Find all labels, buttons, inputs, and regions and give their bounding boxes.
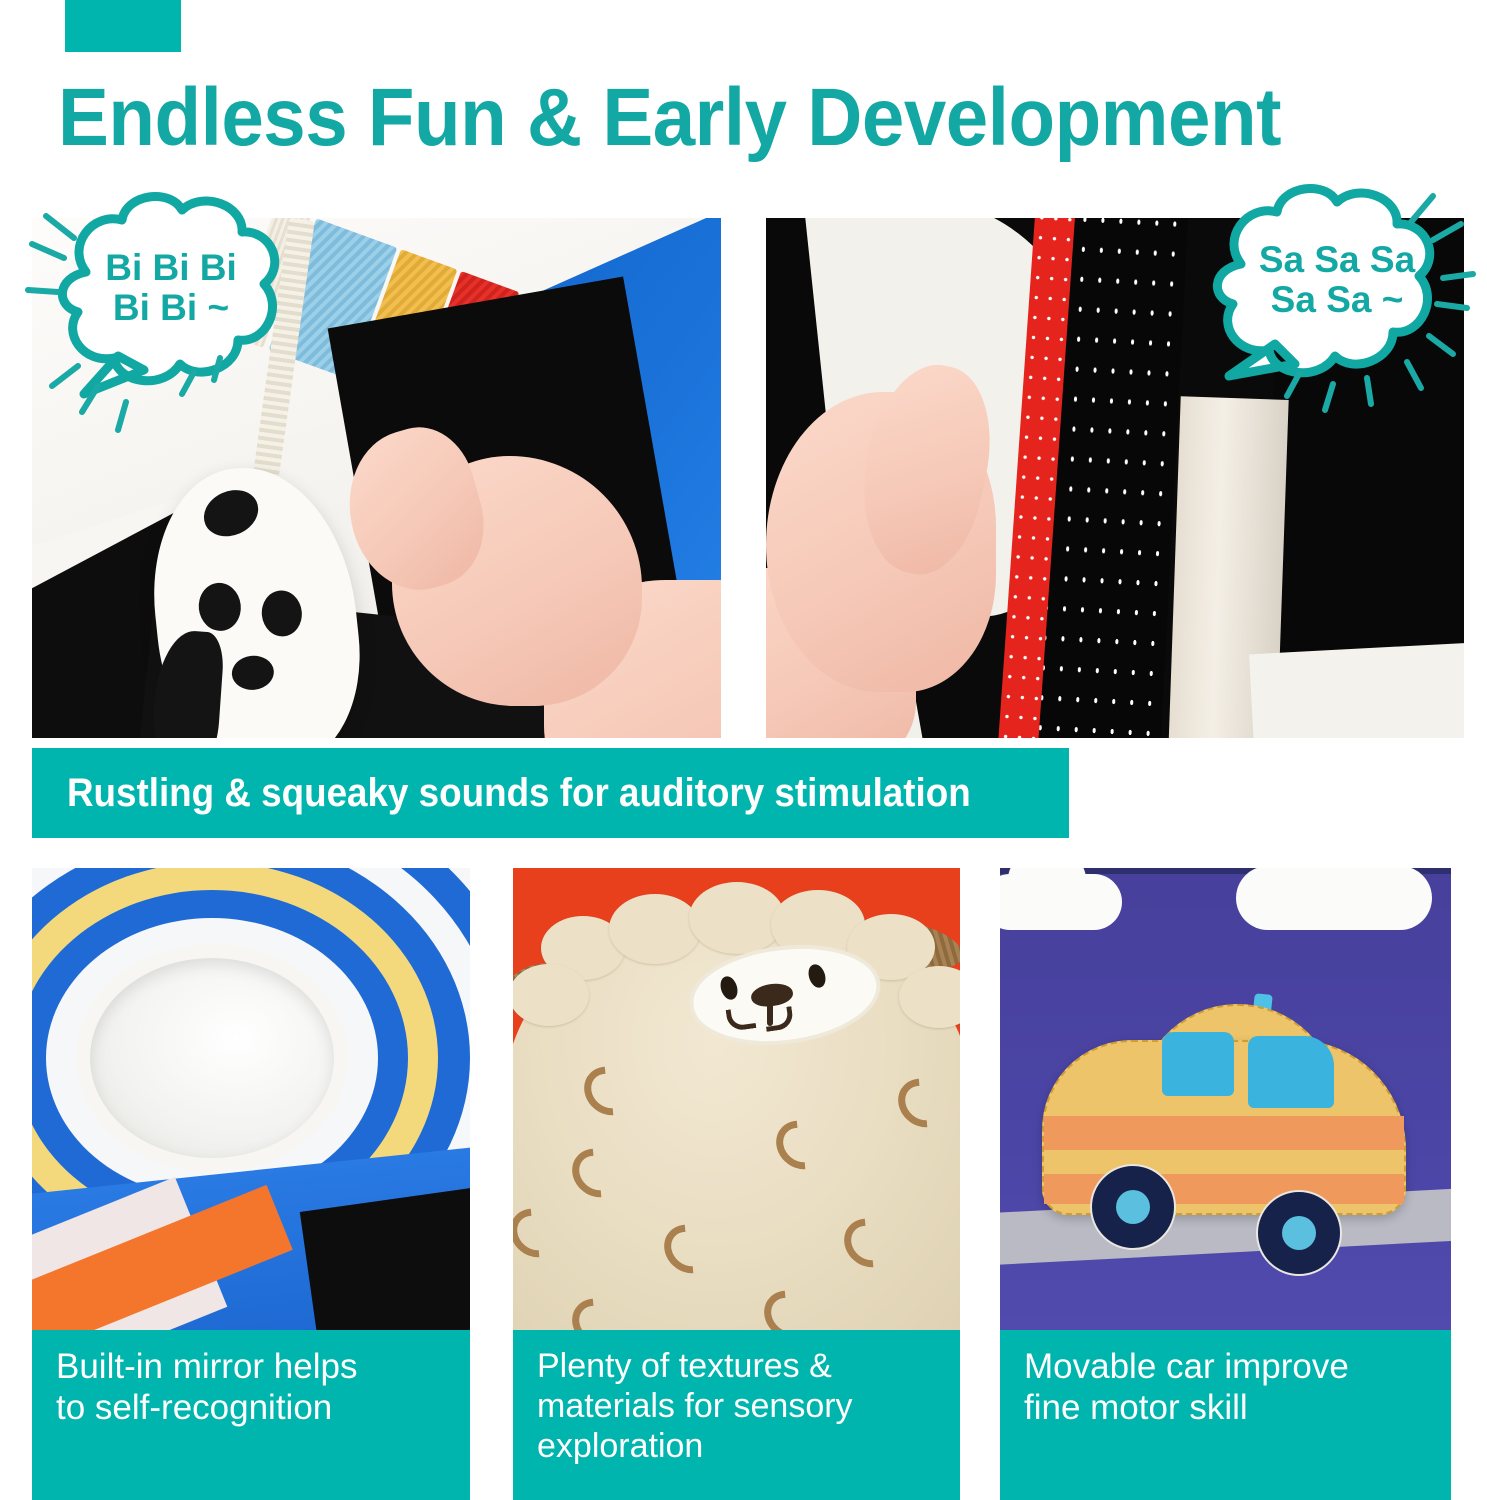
auditory-caption-text: Rustling & squeaky sounds for auditory s… — [32, 771, 971, 816]
speech-bubble-right: Sa Sa Sa Sa Sa ~ — [1185, 178, 1485, 448]
textures-caption: Plenty of textures & materials for senso… — [513, 1330, 960, 1500]
cloud-icon — [1000, 874, 1122, 930]
fabric-car-toy — [1042, 998, 1412, 1298]
page-title: Endless Fun & Early Development — [58, 72, 1360, 164]
lamb-fluff — [689, 882, 785, 954]
infographic-page: Endless Fun & Early Development — [0, 0, 1487, 1500]
car-photo — [1000, 868, 1451, 1330]
bubble-text: Bi Bi Bi Bi Bi ~ — [66, 248, 276, 328]
movable-car-caption: Movable car improve fine motor skill — [1000, 1330, 1451, 1500]
white-panel-bottom-right — [1249, 642, 1464, 738]
car-window-rear — [1248, 1036, 1334, 1108]
speech-bubble-left: Bi Bi Bi Bi Bi ~ — [22, 180, 322, 460]
cloud-icon — [1236, 868, 1432, 930]
movable-car-card: Movable car improve fine motor skill — [1000, 868, 1451, 1500]
mirror-caption: Built-in mirror helps to self-recognitio… — [32, 1330, 470, 1500]
car-stripe — [1044, 1116, 1404, 1150]
baby-mirror — [76, 944, 348, 1172]
bubble-text: Sa Sa Sa Sa Sa ~ — [1227, 240, 1447, 320]
lamb-fluff — [609, 894, 701, 964]
textures-card: Plenty of textures & materials for senso… — [513, 868, 960, 1500]
mirror-card: Built-in mirror helps to self-recognitio… — [32, 868, 470, 1500]
lamb-photo — [513, 868, 960, 1330]
baby-hand — [362, 430, 721, 738]
bottom-card-row: Built-in mirror helps to self-recognitio… — [0, 868, 1487, 1500]
auditory-caption-bar: Rustling & squeaky sounds for auditory s… — [32, 748, 1069, 838]
car-window-front — [1162, 1032, 1234, 1096]
accent-square — [65, 0, 181, 52]
baby-hand — [766, 358, 1106, 738]
car-wheel-front — [1090, 1164, 1176, 1250]
mirror-photo — [32, 868, 470, 1330]
car-wheel-rear — [1256, 1190, 1342, 1276]
